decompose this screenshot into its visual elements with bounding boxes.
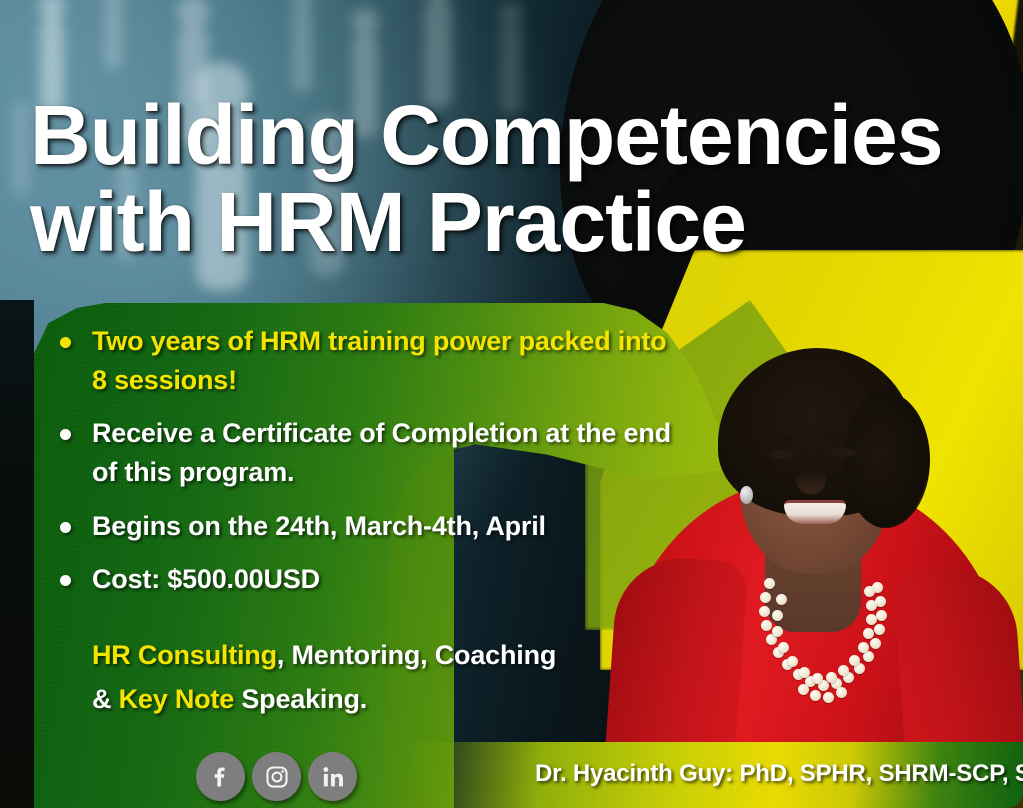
feature-bullet-list: Two years of HRM training power packed i…	[46, 322, 686, 613]
presenter-eye-left	[768, 450, 794, 459]
list-item: Receive a Certificate of Completion at t…	[46, 414, 686, 492]
services-highlight-keynote: Key Note	[119, 684, 234, 714]
presenter-eye-right	[830, 448, 856, 457]
presenter-smile	[784, 500, 846, 524]
services-highlight-consulting: HR Consulting	[92, 640, 277, 670]
presenter-nose	[796, 468, 826, 494]
services-line-1: HR Consulting, Mentoring, Coaching	[92, 634, 556, 678]
promotional-flyer: Building Competencies with HRM Practice …	[0, 0, 1023, 808]
linkedin-icon[interactable]	[308, 752, 357, 801]
list-item: Two years of HRM training power packed i…	[46, 322, 686, 400]
services-line-1-rest: , Mentoring, Coaching	[277, 640, 556, 670]
page-title-line-1: Building Competencies	[30, 92, 1005, 179]
page-title-line-2: with HRM Practice	[30, 179, 1005, 266]
presenter-hair-side	[844, 392, 930, 528]
page-title: Building Competencies with HRM Practice	[30, 92, 1005, 265]
services-line-2-rest: Speaking.	[234, 684, 367, 714]
facebook-icon[interactable]	[196, 752, 245, 801]
left-dark-strip	[0, 300, 34, 808]
presenter-credentials: Dr. Hyacinth Guy: PhD, SPHR, SHRM-SCP, S…	[535, 760, 1023, 788]
instagram-icon[interactable]	[252, 752, 301, 801]
list-item: Cost: $500.00USD	[46, 560, 686, 599]
services-line-2-prefix: &	[92, 684, 119, 714]
list-item: Begins on the 24th, March-4th, April	[46, 507, 686, 546]
social-links	[196, 752, 357, 801]
presenter-earring	[740, 486, 753, 504]
services-block: HR Consulting, Mentoring, Coaching & Key…	[92, 634, 556, 721]
services-line-2: & Key Note Speaking.	[92, 678, 556, 722]
